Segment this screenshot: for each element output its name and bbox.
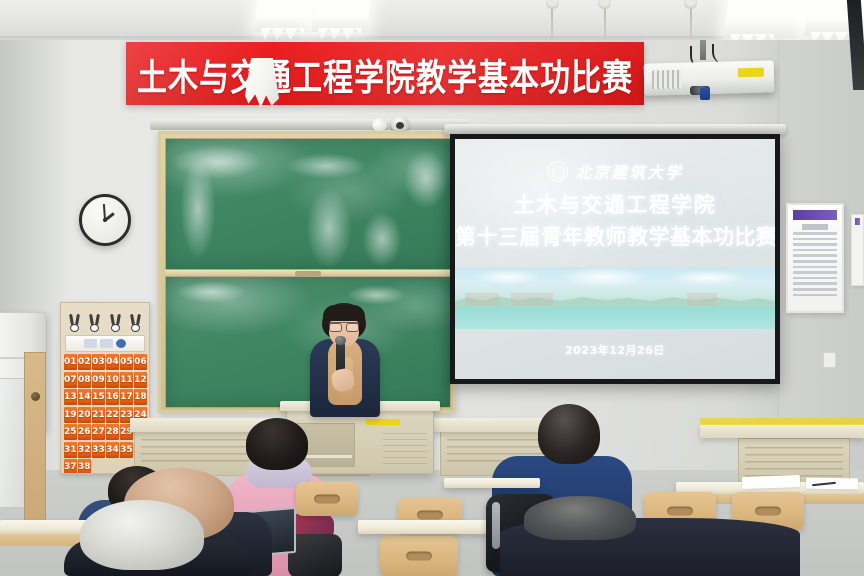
speaker-dome [372,118,387,132]
classroom-chair[interactable] [296,482,358,516]
pocket-slot[interactable]: 16 [106,389,119,405]
chalk-smudge [362,211,402,267]
photo-cloud [473,269,543,285]
pocket-slot[interactable]: 33 [92,442,105,458]
person-head [538,404,600,464]
ceiling-light [311,0,371,32]
person-lap-item [288,534,342,576]
bunny-ears-icon [69,314,80,332]
chalk-rail [150,119,468,130]
person-head [246,418,308,470]
classroom-photo: 土木与交通工程学院教学基本功比赛 北京建筑大学 [0,0,864,576]
notice-title-line [802,224,828,230]
chair-handle-cutout [406,552,432,561]
pocket-slot[interactable]: 31 [64,442,77,458]
chart-strip-block [84,339,97,348]
chalk-smudge [172,145,262,179]
wall-clock [79,194,131,246]
photo-cloud [669,270,747,285]
audience-member-foreground-right [500,496,800,576]
pocket-slot[interactable]: 34 [106,442,119,458]
student-desk [444,478,540,488]
slide-campus-photo [455,267,775,329]
photo-cloud [559,267,649,287]
chair-handle-cutout [314,495,340,504]
slide-university-name: 北京建筑大学 [575,159,683,183]
notice-body-lines [793,232,837,296]
bunny-ears-icon [110,314,121,332]
pocket-slot[interactable]: 27 [92,424,105,440]
chart-strip-block [100,339,113,348]
pocket-slot[interactable]: 19 [64,407,77,423]
chalk-smudge [176,281,246,303]
door-knob-icon[interactable] [31,392,40,401]
projector-plug [700,88,710,100]
pocket-slot[interactable]: 11 [120,372,133,388]
pocket-slot[interactable]: 15 [92,389,105,405]
back-counter-top [700,424,864,438]
pocket-slot[interactable]: 14 [78,389,91,405]
chalk-smudge [306,187,352,269]
chalk-smudge [286,153,366,179]
person-head [80,500,204,570]
university-seal-icon [547,161,568,182]
pocket-slot[interactable]: 05 [120,354,133,370]
bunny-ears-icon [89,314,100,332]
pocket-slot[interactable]: 26 [78,424,91,440]
classroom-chair[interactable] [380,536,458,576]
slide-date: 2023年12月26日 [455,342,775,358]
audience-member-grey-hair [64,500,252,576]
projection-screen: 北京建筑大学 土木与交通工程学院 第十三届青年教师教学基本功比赛 2023年12… [450,134,780,384]
pocket-slot[interactable]: 03 [92,354,105,370]
glasses-icon [329,322,359,329]
pocket-slot[interactable]: 07 [64,372,77,388]
person-head [524,496,636,540]
door-frame [24,352,46,542]
ceiling-light [724,0,808,38]
clock-center [103,218,107,222]
slide-logo-row: 北京建筑大学 [455,159,775,183]
pocket-slot[interactable]: 37 [64,459,77,474]
pocket-slot[interactable]: 08 [78,372,91,388]
slide-title-line2: 第十三届青年教师教学基本功比赛 [455,221,775,251]
pocket-slot[interactable]: 35 [120,442,133,458]
pocket-slot[interactable]: 21 [92,407,105,423]
pocket-slot[interactable]: 04 [106,354,119,370]
chalk-smudge [180,159,216,259]
event-banner: 土木与交通工程学院教学基本功比赛 [126,42,644,105]
blackboard-upper-pane [165,138,451,270]
chalk-smudge [346,285,406,305]
counter-yellow-strip [700,418,864,425]
pocket-slot[interactable]: 09 [92,372,105,388]
pocket-slot[interactable]: 17 [120,389,133,405]
pocket-slot[interactable]: 12 [134,372,147,388]
pocket-slot[interactable]: 28 [106,424,119,440]
slide-title-line1: 土木与交通工程学院 [455,189,775,219]
wall-socket[interactable] [823,352,836,368]
presenter-bangs [323,305,365,321]
pocket-slot[interactable]: 32 [78,442,91,458]
pocket-slot[interactable]: 13 [64,389,77,405]
chalk-smudge [404,149,448,209]
podium-sticker [366,419,400,425]
pocket-slot[interactable]: 02 [78,354,91,370]
pocket-slot[interactable]: 18 [134,389,147,405]
photo-water [455,307,775,329]
projector-vent [652,70,682,90]
chair-handle-cutout [417,511,443,520]
paper-sheet [742,475,800,489]
pocket-slot[interactable]: 10 [106,372,119,388]
backpack-strap [492,502,500,549]
teacher-presenter [296,303,392,415]
student-desk [358,520,498,534]
projector-label-sticker [738,68,764,78]
wall-notice-large [786,203,844,313]
wall-notice-small [851,214,864,286]
podium-vents [383,433,427,469]
notice-header-bar [855,218,860,225]
pocket-slot[interactable]: 06 [134,354,147,370]
chart-header-icons [64,306,146,334]
pocket-slot[interactable]: 20 [78,407,91,423]
camera-icon [391,116,409,132]
bunny-ears-icon [130,314,141,332]
pocket-slot[interactable]: 22 [106,407,119,423]
chart-strip-dot [116,339,126,348]
banner-text: 土木与交通工程学院教学基本功比赛 [137,47,633,101]
pocket-slot[interactable]: 01 [64,354,77,370]
notice-header-bar [793,210,837,220]
chart-title-strip [65,335,145,352]
projected-slide: 北京建筑大学 土木与交通工程学院 第十三届青年教师教学基本功比赛 2023年12… [455,139,775,379]
pocket-slot[interactable]: 25 [64,424,77,440]
ceiling-light [254,0,314,32]
